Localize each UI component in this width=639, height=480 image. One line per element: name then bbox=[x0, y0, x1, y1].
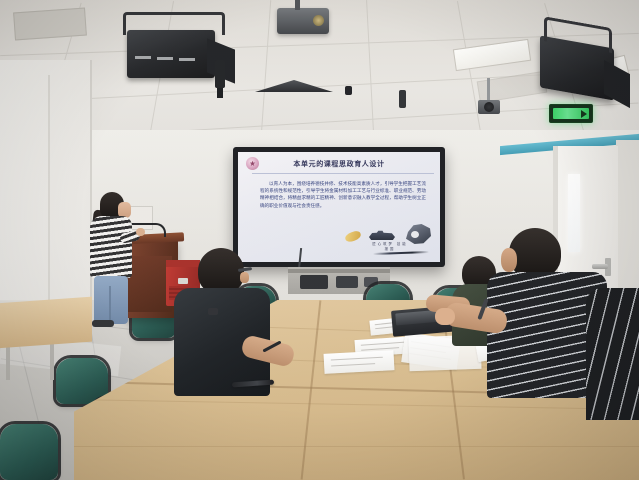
document-sheet[interactable] bbox=[324, 350, 395, 374]
conference-table-left-wing bbox=[0, 297, 92, 349]
attendee-far-right-edge bbox=[586, 288, 639, 418]
slide-artwork: 匠心筑梦 技能报国 bbox=[343, 222, 435, 256]
presenter-shoe bbox=[92, 320, 114, 327]
exit-sign bbox=[549, 104, 593, 123]
ceiling-projector-icon bbox=[277, 8, 329, 34]
ceiling-speaker-icon bbox=[215, 60, 225, 88]
slide-title: 本单元的课程思政育人设计 bbox=[238, 159, 440, 169]
media-player-box bbox=[336, 276, 358, 288]
ceiling-tile bbox=[13, 8, 87, 41]
slide-calligraphy: 匠心筑梦 技能报国 bbox=[371, 242, 409, 252]
ink-cliff-icon bbox=[406, 224, 431, 244]
presenter-striped-shirt bbox=[90, 216, 132, 278]
slide-body-text: 以育人为本，围绕培养德技并修、技术技能高素质人才，引导学生把握工艺流程的系统性和… bbox=[260, 180, 426, 209]
presenter-jeans bbox=[94, 276, 128, 324]
slide-divider bbox=[252, 173, 434, 174]
presentation-slide: 本单元的课程思政育人设计 以育人为本，围绕培养德技并修、技术技能高素质人才，引导… bbox=[238, 152, 440, 262]
ink-ship-icon bbox=[369, 230, 395, 240]
ceiling-sensor-icon bbox=[345, 86, 352, 95]
attendee-head bbox=[509, 228, 561, 278]
small-object[interactable] bbox=[208, 308, 218, 315]
presenter-hand bbox=[136, 228, 145, 236]
attendee-face bbox=[501, 248, 517, 272]
attendee-hand bbox=[435, 308, 455, 325]
stage-light-left-icon bbox=[127, 30, 215, 78]
wall-sensor-icon bbox=[399, 90, 406, 108]
display-screen[interactable]: 本单元的课程思政育人设计 以育人为本，围绕培养德技并修、技术技能高素质人才，引导… bbox=[238, 152, 440, 262]
ceiling bbox=[0, 0, 639, 150]
attendee-ear bbox=[240, 272, 249, 283]
meeting-room-photo: 本单元的课程思政育人设计 以育人为本，围绕培养德技并修、技术技能高素质人才，引导… bbox=[0, 0, 639, 480]
gold-ingot-icon bbox=[344, 230, 362, 244]
chair[interactable] bbox=[0, 424, 58, 480]
ptz-camera-icon bbox=[478, 100, 500, 114]
media-player-box bbox=[300, 275, 328, 289]
attendee-pinstripe-shirt bbox=[586, 288, 639, 420]
attendee-front-left bbox=[172, 248, 268, 418]
